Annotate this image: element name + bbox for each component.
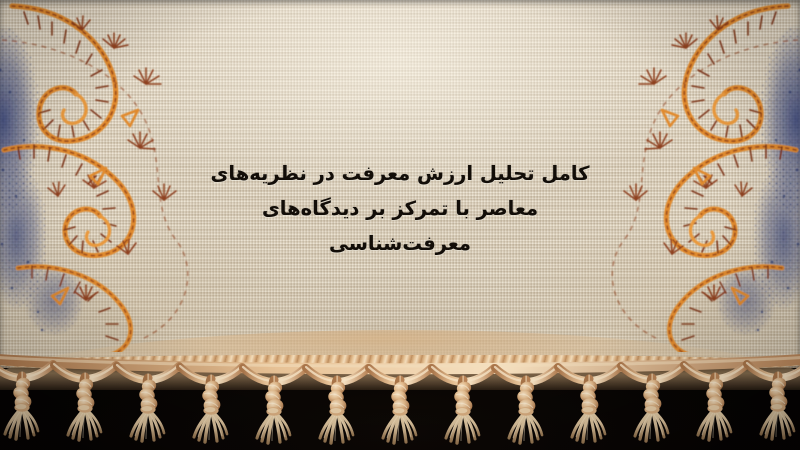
tassel-fringe <box>0 352 800 450</box>
corner-ornament-left <box>0 0 244 352</box>
corner-ornament-right <box>556 0 800 352</box>
tassel-row <box>0 363 800 443</box>
title-card-canvas: کامل تحلیل ارزش معرفت در نظریه‌های معاصر… <box>0 0 800 450</box>
